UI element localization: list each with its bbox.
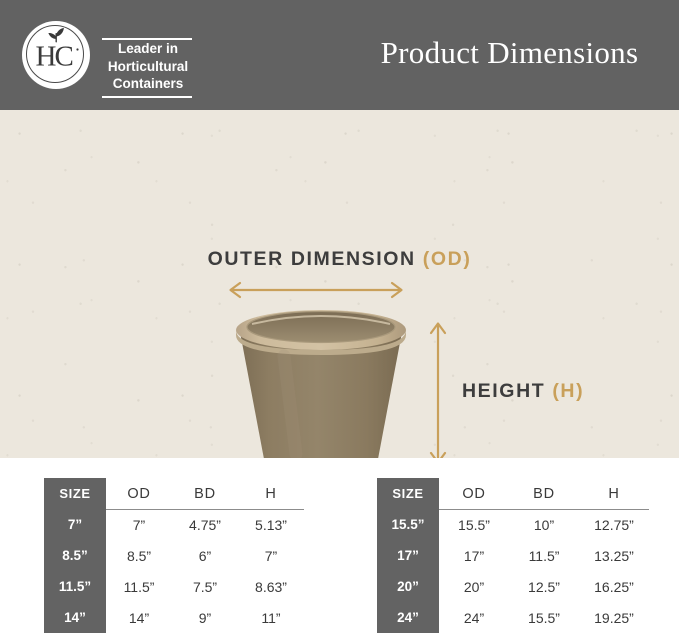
cell-od: 11.5” [106, 571, 172, 602]
column-header-bd: BD [172, 478, 238, 509]
cell-h: 12.75” [579, 509, 649, 540]
outer-dimension-arrow-icon [225, 280, 407, 300]
column-header-bd: BD [509, 478, 579, 509]
cell-size: 14” [44, 602, 106, 633]
header-bar: H C Leader in Horticultural Containers P… [0, 0, 679, 110]
height-code: (H) [552, 380, 584, 402]
cell-bd: 12.5” [509, 571, 579, 602]
column-header-od: OD [106, 478, 172, 509]
cell-bd: 10” [509, 509, 579, 540]
brand-divider-bottom [102, 96, 192, 98]
planter-pot-illustration-icon [222, 304, 420, 458]
height-text: HEIGHT [462, 380, 545, 402]
svg-text:C: C [55, 41, 74, 73]
cell-size: 11.5” [44, 571, 106, 602]
column-header-size: SIZE [377, 478, 439, 509]
outer-dimension-text: OUTER DIMENSION [208, 248, 416, 270]
height-arrow-icon [428, 318, 448, 458]
outer-dimension-label: OUTER DIMENSION (OD) [0, 248, 679, 271]
cell-h: 11” [238, 602, 304, 633]
cell-size: 17” [377, 540, 439, 571]
cell-bd: 15.5” [509, 602, 579, 633]
table-row: 8.5” 8.5” 6” 7” [44, 540, 304, 571]
cell-h: 5.13” [238, 509, 304, 540]
size-table-large: SIZE OD BD H 15.5” 15.5” 10” 12.75” 17” … [377, 478, 649, 633]
brand-tagline-line-1: Leader in [102, 40, 194, 58]
cell-size: 7” [44, 509, 106, 540]
cell-h: 16.25” [579, 571, 649, 602]
table-header-row: SIZE OD BD H [377, 478, 649, 509]
brand-logo-block: H C Leader in Horticultural Containers [22, 18, 202, 94]
cell-od: 17” [439, 540, 509, 571]
cell-h: 19.25” [579, 602, 649, 633]
column-header-size: SIZE [44, 478, 106, 509]
table-header-row: SIZE OD BD H [44, 478, 304, 509]
cell-h: 8.63” [238, 571, 304, 602]
size-table-small: SIZE OD BD H 7” 7” 4.75” 5.13” 8.5” 8.5”… [44, 478, 304, 633]
cell-od: 15.5” [439, 509, 509, 540]
cell-bd: 4.75” [172, 509, 238, 540]
height-label: HEIGHT (H) [462, 380, 584, 403]
svg-text:H: H [36, 41, 57, 73]
cell-od: 24” [439, 602, 509, 633]
cell-size: 8.5” [44, 540, 106, 571]
brand-tagline-line-3: Containers [102, 75, 194, 93]
table-row: 20” 20” 12.5” 16.25” [377, 571, 649, 602]
cell-size: 15.5” [377, 509, 439, 540]
hc-leaf-monogram-logo-icon: H C [22, 18, 90, 86]
cell-size: 20” [377, 571, 439, 602]
cell-od: 20” [439, 571, 509, 602]
table-row: 15.5” 15.5” 10” 12.75” [377, 509, 649, 540]
outer-dimension-code: (OD) [423, 248, 472, 270]
cell-size: 24” [377, 602, 439, 633]
table-row: 17” 17” 11.5” 13.25” [377, 540, 649, 571]
cell-bd: 9” [172, 602, 238, 633]
table-row: 24” 24” 15.5” 19.25” [377, 602, 649, 633]
table-row: 7” 7” 4.75” 5.13” [44, 509, 304, 540]
page-title: Product Dimensions [340, 0, 679, 110]
cell-bd: 7.5” [172, 571, 238, 602]
column-header-h: H [238, 478, 304, 509]
column-header-od: OD [439, 478, 509, 509]
cell-od: 7” [106, 509, 172, 540]
cell-od: 14” [106, 602, 172, 633]
cell-h: 7” [238, 540, 304, 571]
brand-tagline: Leader in Horticultural Containers [102, 40, 194, 93]
cell-bd: 6” [172, 540, 238, 571]
table-row: 11.5” 11.5” 7.5” 8.63” [44, 571, 304, 602]
table-row: 14” 14” 9” 11” [44, 602, 304, 633]
cell-od: 8.5” [106, 540, 172, 571]
diagram-hero-section: OUTER DIMENSION (OD) [0, 110, 679, 458]
cell-h: 13.25” [579, 540, 649, 571]
brand-tagline-line-2: Horticultural [102, 58, 194, 76]
cell-bd: 11.5” [509, 540, 579, 571]
column-header-h: H [579, 478, 649, 509]
